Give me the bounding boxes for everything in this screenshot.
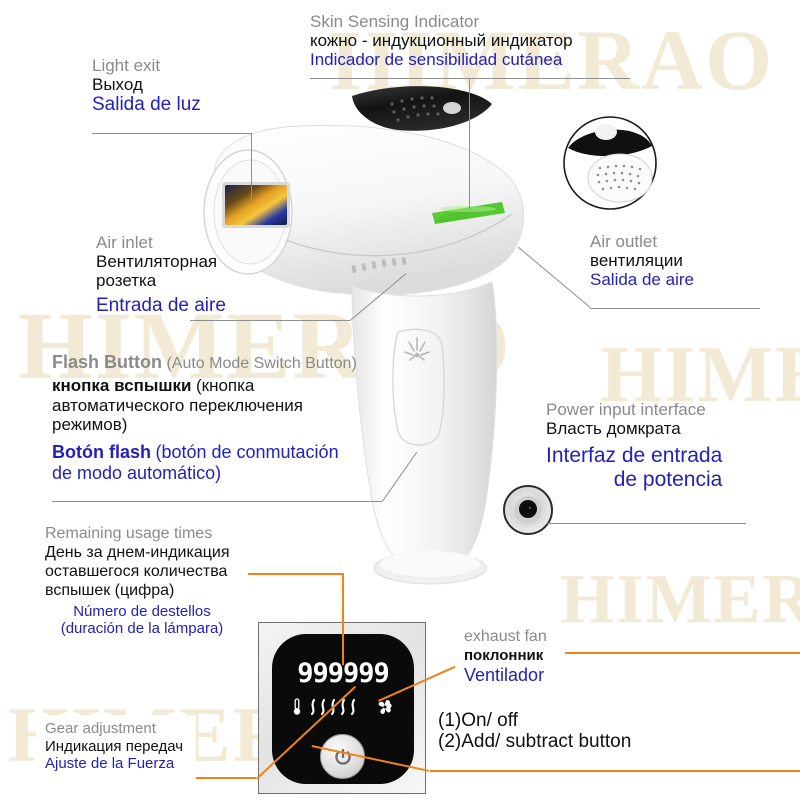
callout-gear-adjustment-ru: Индикация передач <box>45 738 187 756</box>
leader-line-air-outlet <box>518 247 591 308</box>
callout-light-exit-es: Salida de luz <box>92 94 201 115</box>
leader-line-light-exit <box>251 133 252 205</box>
callout-light-exit: Light exit Выход Salida de luz <box>92 56 201 115</box>
callout-remaining-usage-ru1: День за днем-индикация <box>45 544 239 563</box>
callout-remaining-usage-es1: Número de destellos <box>45 603 239 621</box>
callout-air-outlet-ru: вентиляции <box>590 251 694 270</box>
callout-power-input-es1: Interfaz de entrada <box>546 444 722 468</box>
callout-air-outlet-es: Salida de aire <box>590 270 694 289</box>
callout-flash-button-en-bold: Flash Button <box>52 352 162 372</box>
callout-skin-sensor: Skin Sensing Indicator кожно - индукцион… <box>310 12 573 69</box>
callout-flash-button-es-rest2: de modo automático) <box>52 463 382 483</box>
leader-line-buttons-note <box>430 770 800 772</box>
callout-gear-adjustment-en: Gear adjustment <box>45 720 187 738</box>
callout-power-input-es2: de potencia <box>546 468 722 492</box>
leader-line-air-inlet <box>190 320 350 321</box>
callout-air-inlet-ru2: розетка <box>96 271 226 290</box>
callout-flash-button: Flash Button (Auto Mode Switch Button) к… <box>52 352 382 483</box>
callout-exhaust-fan-en: exhaust fan <box>464 628 556 647</box>
callout-power-input-en: Power input interface <box>546 400 722 419</box>
callout-light-exit-ru: Выход <box>92 75 201 94</box>
leader-line-light-exit <box>92 133 252 134</box>
callout-flash-button-ru-rest2: автоматического переключения <box>52 396 382 415</box>
callout-exhaust-fan: exhaust fan поклонник Ventilador <box>455 623 565 692</box>
callout-air-inlet-ru1: Вентиляторная <box>96 252 226 271</box>
callout-air-inlet-en: Air inlet <box>96 233 226 252</box>
watermark: HIMERAO <box>560 560 800 640</box>
callout-power-input: Power input interface Власть домкрата In… <box>546 400 722 491</box>
callout-remaining-usage-ru2: оставшегося количества <box>45 563 239 582</box>
leader-line-air-outlet <box>590 308 760 309</box>
leader-line-remaining-usage <box>248 573 344 575</box>
diagram-canvas: HIMERAO HIMERAO HIMERAO HIMERAO HIMERAO <box>0 0 800 800</box>
callout-skin-sensor-es: Indicador de sensibilidad cutánea <box>310 50 573 69</box>
status-icon-row <box>272 698 414 716</box>
leader-line-skin-sensor <box>469 78 470 209</box>
callout-air-inlet: Air inlet Вентиляторная розетка Entrada … <box>96 233 226 316</box>
callout-power-input-ru: Власть домкрата <box>546 419 722 438</box>
callout-remaining-usage: Remaining usage times День за днем-индик… <box>36 520 248 644</box>
thermometer-icon <box>292 698 302 716</box>
callout-air-outlet: Air outlet вентиляции Salida de aire <box>590 232 694 289</box>
callout-air-inlet-es: Entrada de aire <box>96 295 226 316</box>
callout-gear-adjustment-es: Ajuste de la Fuerza <box>45 755 187 773</box>
callout-remaining-usage-es2: (duración de la lámpara) <box>45 620 239 638</box>
callout-skin-sensor-ru: кожно - индукционный индикатор <box>310 31 573 50</box>
callout-air-outlet-en: Air outlet <box>590 232 694 251</box>
callout-light-exit-en: Light exit <box>92 56 201 75</box>
callout-buttons-note: (1)On/ off (2)Add/ subtract button <box>438 710 631 753</box>
callout-flash-button-ru-rest1: (кнопка <box>196 376 254 395</box>
callout-skin-sensor-en: Skin Sensing Indicator <box>310 12 573 31</box>
callout-flash-button-en-paren: (Auto Mode Switch Button) <box>166 355 356 372</box>
callout-gear-adjustment: Gear adjustment Индикация передач Ajuste… <box>36 715 196 779</box>
callout-flash-button-ru-rest3: режимов) <box>52 415 382 434</box>
callout-exhaust-fan-ru: поклонник <box>464 647 556 665</box>
callout-remaining-usage-ru3: вспышек (цифра) <box>45 582 239 601</box>
leader-line-power-input <box>546 523 746 524</box>
callout-exhaust-fan-es: Ventilador <box>464 665 556 686</box>
callout-flash-button-es-bold: Botón flash <box>52 442 151 462</box>
callout-buttons-note-line2: (2)Add/ subtract button <box>438 731 631 752</box>
leader-line-flash-button <box>382 452 418 502</box>
callout-remaining-usage-en: Remaining usage times <box>45 525 239 544</box>
callout-flash-button-ru-bold: кнопка вспышки <box>52 376 192 395</box>
callout-buttons-note-line1: (1)On/ off <box>438 710 631 731</box>
leader-line-flash-button <box>52 501 382 502</box>
leader-line-remaining-usage <box>342 573 344 665</box>
callout-flash-button-es-rest1: (botón de conmutación <box>155 442 338 462</box>
